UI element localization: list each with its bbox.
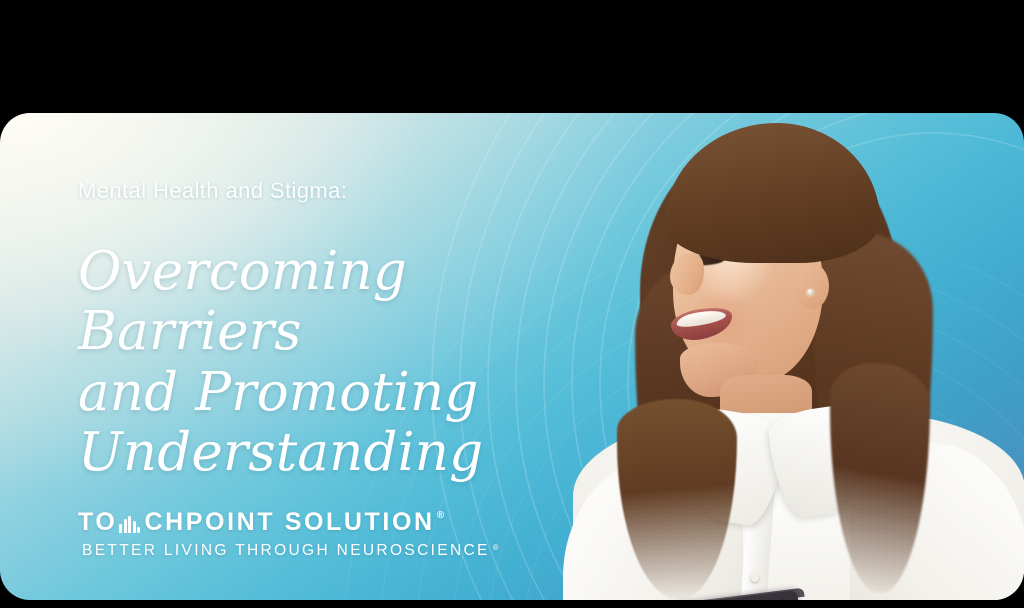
nose (670, 253, 704, 295)
brand-wordmark-part2: CHPOINT SOLUTION (144, 510, 434, 535)
brand-tagline: BETTER LIVING THROUGH NEUROSCIENCE® (82, 542, 499, 560)
brand-tagline-text: BETTER LIVING THROUGH NEUROSCIENCE (82, 542, 490, 559)
brand-wordmark: TO CHPOINT SOLUTION ® (78, 510, 499, 535)
page-title: Overcoming Barriers and Promoting Unders… (78, 242, 638, 484)
hair-top (665, 123, 880, 263)
shirt-button (750, 573, 760, 583)
touchpoint-fingers-icon (119, 514, 140, 533)
brand-logo[interactable]: TO CHPOINT SOLUTION ® BETTER LIVING THRO… (78, 510, 499, 560)
brand-wordmark-part1: TO (78, 510, 117, 535)
headline-line-3: Understanding (78, 423, 638, 483)
hero-banner-card: Mental Health and Stigma: Overcoming Bar… (0, 113, 1024, 600)
eyebrow-text: Mental Health and Stigma: (78, 178, 638, 204)
headline-line-1: Overcoming Barriers (78, 242, 638, 363)
screenshot-stage: Mental Health and Stigma: Overcoming Bar… (0, 0, 1024, 608)
registered-mark: ® (437, 511, 444, 521)
registered-mark-tagline: ® (493, 543, 499, 552)
ear (795, 263, 829, 309)
headline-line-2: and Promoting (78, 363, 638, 423)
hero-copy-block: Mental Health and Stigma: Overcoming Bar… (78, 178, 638, 484)
earring (807, 289, 814, 296)
